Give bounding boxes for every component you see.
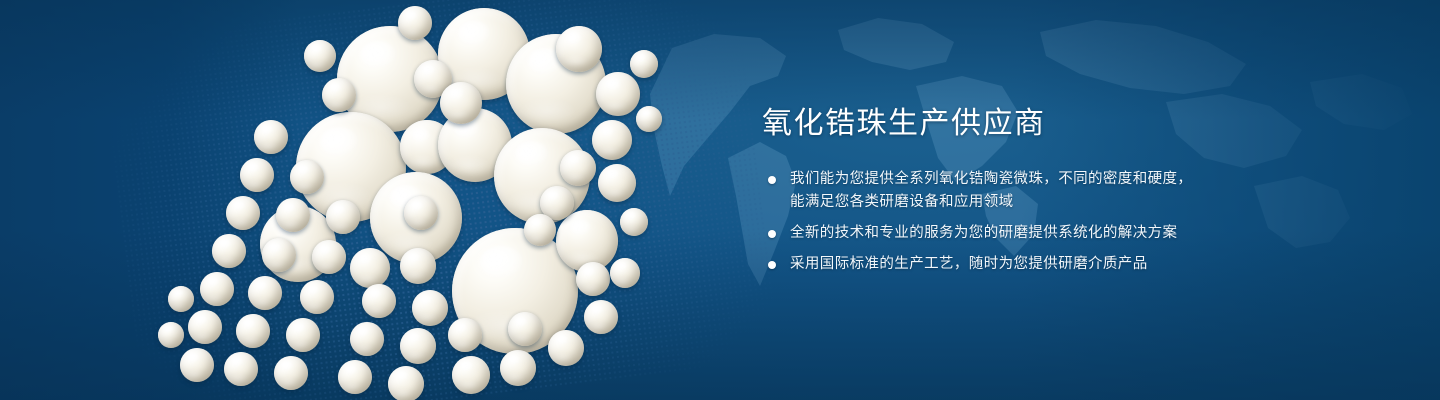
bullet-dot-icon [768, 176, 776, 184]
list-item: 我们能为您提供全系列氧化锆陶瓷微珠，不同的密度和硬度， 能满足您各类研磨设备和应… [762, 168, 1382, 214]
bullet-line: 我们能为您提供全系列氧化锆陶瓷微珠，不同的密度和硬度， [790, 168, 1382, 191]
hero-banner: 氧化锆珠生产供应商 我们能为您提供全系列氧化锆陶瓷微珠，不同的密度和硬度， 能满… [0, 0, 1440, 400]
feature-list: 我们能为您提供全系列氧化锆陶瓷微珠，不同的密度和硬度， 能满足您各类研磨设备和应… [762, 168, 1382, 276]
bullet-line: 全新的技术和专业的服务为您的研磨提供系统化的解决方案 [790, 222, 1382, 245]
list-item: 采用国际标准的生产工艺，随时为您提供研磨介质产品 [762, 253, 1382, 276]
zirconia-bead-cluster [0, 0, 760, 400]
bullet-dot-icon [768, 261, 776, 269]
bullet-line: 采用国际标准的生产工艺，随时为您提供研磨介质产品 [790, 253, 1382, 276]
banner-copy: 氧化锆珠生产供应商 我们能为您提供全系列氧化锆陶瓷微珠，不同的密度和硬度， 能满… [762, 104, 1382, 276]
bullet-dot-icon [768, 230, 776, 238]
banner-headline: 氧化锆珠生产供应商 [762, 104, 1382, 144]
bullet-line: 能满足您各类研磨设备和应用领域 [790, 191, 1382, 214]
list-item: 全新的技术和专业的服务为您的研磨提供系统化的解决方案 [762, 222, 1382, 245]
